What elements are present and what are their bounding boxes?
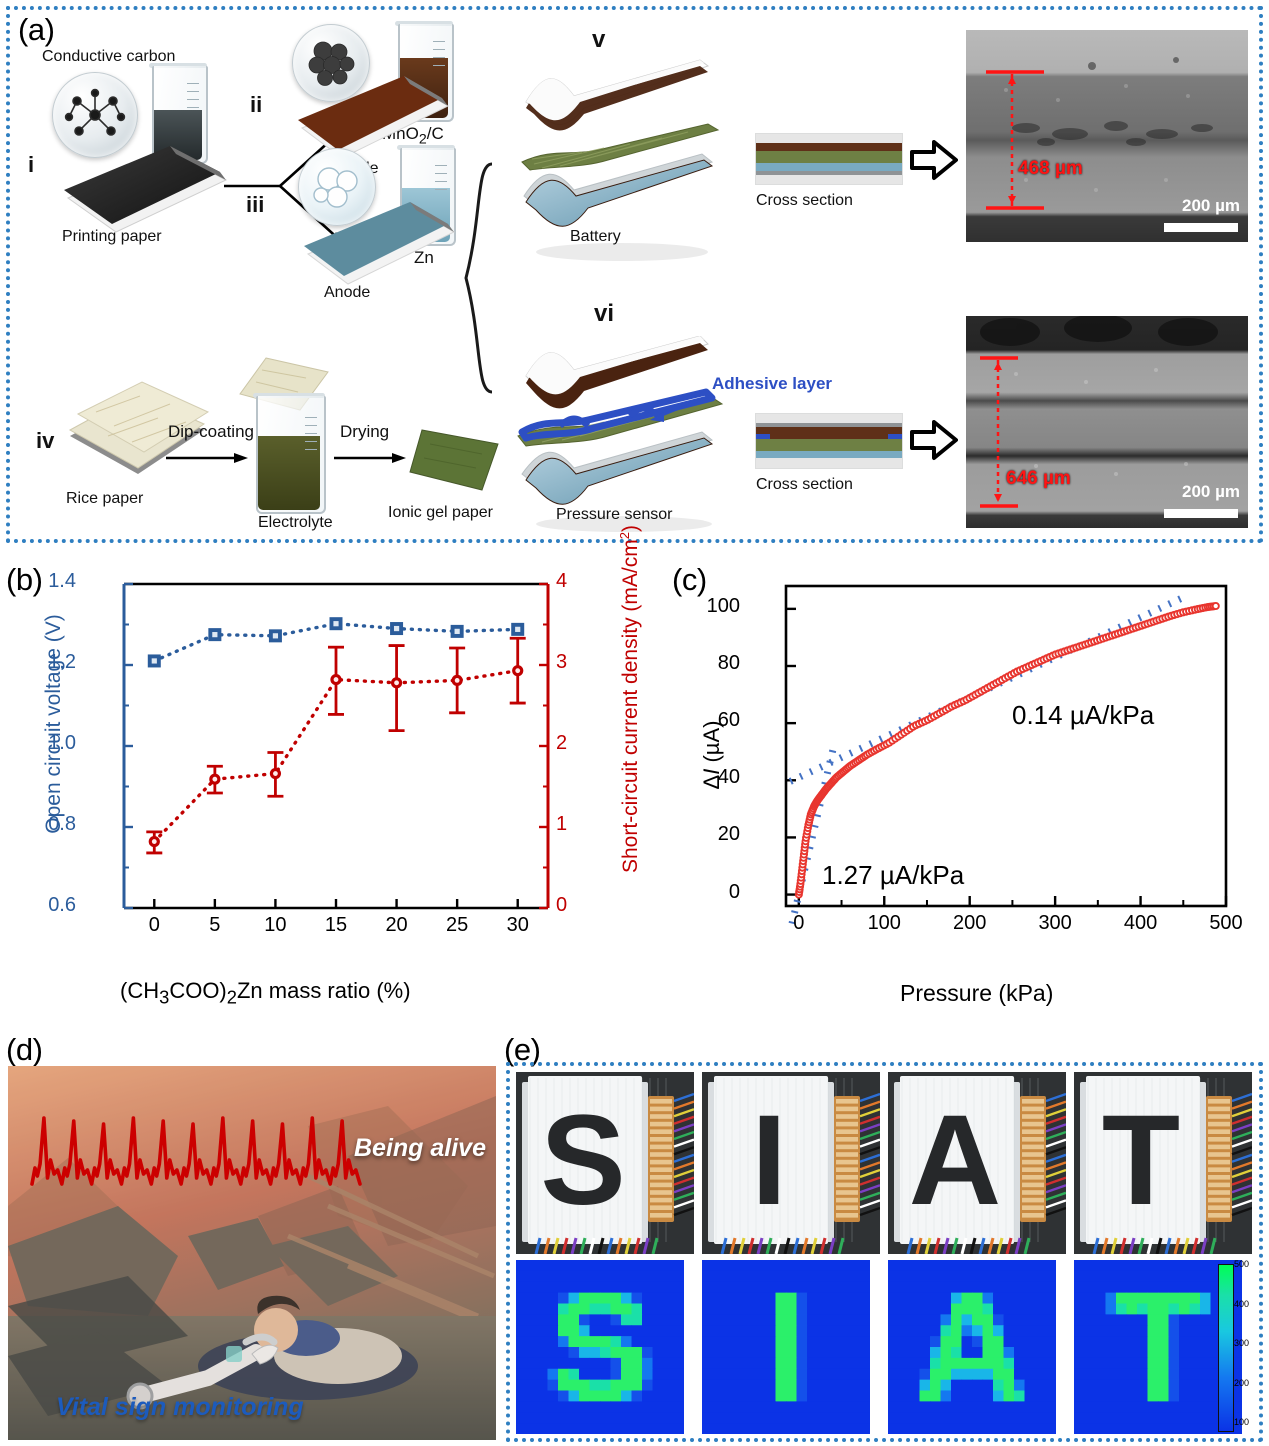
panel-e-colorbar-tick: 100: [1234, 1417, 1249, 1427]
anode-sheet-icon: [298, 196, 458, 296]
chart-c: [742, 576, 1234, 950]
xlabel-mid: COO): [169, 978, 226, 1003]
photo-svg: A: [888, 1072, 1066, 1254]
arrow-dip-coating: [166, 450, 250, 466]
chart-b-xtick: 5: [199, 914, 231, 937]
chart-b-ytick-right: 0: [556, 894, 567, 917]
xlabel-sub2: 2: [227, 986, 237, 1007]
chart-c-ytick: 20: [700, 823, 740, 846]
photo-svg: T: [1074, 1072, 1252, 1254]
chart-b-ytick-right: 4: [556, 570, 567, 593]
sem-scale-label-1: 200 µm: [1182, 196, 1240, 216]
photo-svg: S: [516, 1072, 694, 1254]
step-iv-label: iv: [36, 428, 54, 454]
label-drying: Drying: [340, 422, 389, 442]
panel-e-colorbar-tick: 400: [1234, 1299, 1249, 1309]
ylabel-right-sup: 2: [617, 532, 632, 539]
chart-c-xtick: 200: [944, 912, 996, 935]
step-ii-label: ii: [250, 92, 262, 118]
chart-b-ytick-right: 2: [556, 732, 567, 755]
heatmap-svg: [888, 1260, 1056, 1434]
chart-c-xtick: 0: [773, 912, 825, 935]
panel-a-label: (a): [18, 12, 54, 48]
chart-b-xtick: 15: [320, 914, 352, 937]
xsec2-layer-cathode: [756, 427, 902, 439]
heatmap-svg: [516, 1260, 684, 1434]
sem-thickness-sensor: 646 µm: [1006, 468, 1071, 490]
chart-c-ytick: 100: [700, 595, 740, 618]
chart-b-xlabel: (CH3COO)2Zn mass ratio (%): [120, 978, 411, 1008]
xlabel-post: Zn mass ratio (%): [237, 978, 411, 1003]
heatmap-svg: [702, 1260, 870, 1434]
chart-b-ytick-left: 0.6: [22, 894, 76, 917]
chart-c-xtick: 400: [1115, 912, 1167, 935]
xsec-layer-paper-top: [756, 134, 902, 143]
chart-c-xtick: 100: [858, 912, 910, 935]
panel-e-photo-i: I: [702, 1072, 880, 1254]
adhesive-callout-arrow: [648, 392, 714, 426]
battery-exploded-icon: [512, 56, 732, 266]
label-ionic-gel-paper: Ionic gel paper: [388, 504, 493, 522]
sem-image-sensor: 646 µm 200 µm: [966, 316, 1248, 528]
sem-thickness-battery: 468 µm: [1018, 158, 1083, 180]
panel-e-heatmap-t: [1074, 1260, 1242, 1434]
chart-b-ytick-left: 1.2: [22, 651, 76, 674]
grouping-brace: [462, 160, 498, 400]
panel-e-photo-a: A: [888, 1072, 1066, 1254]
step-v-label: v: [592, 26, 605, 54]
panel-e-photo-s: S: [516, 1072, 694, 1254]
panel-e-photo-t: T: [1074, 1072, 1252, 1254]
heatmap-svg: [1074, 1260, 1242, 1434]
chart-b-ytick-right: 3: [556, 651, 567, 674]
chart-b-ytick-left: 1.4: [22, 570, 76, 593]
label-electrolyte: Electrolyte: [258, 514, 333, 532]
cross-section-sensor-icon: [756, 414, 902, 468]
label-pressure-sensor: Pressure sensor: [556, 506, 673, 524]
block-arrow-1-icon: [910, 138, 958, 182]
pulse-waveform: [8, 1066, 496, 1440]
caption-being-alive: Being alive: [354, 1134, 486, 1163]
panel-e-heatmap-a: [888, 1260, 1056, 1434]
photo-svg: I: [702, 1072, 880, 1254]
chart-b-ytick-left: 0.8: [22, 813, 76, 836]
xsec-layer-gel: [756, 151, 902, 163]
chart-b-xtick: 10: [259, 914, 291, 937]
ylabel-right-tail: ): [619, 525, 642, 532]
panel-d-label: (d): [6, 1032, 42, 1068]
chart-b: [86, 572, 586, 954]
xsec-layer-base: [756, 175, 902, 184]
panel-e-photo-row: SIAT: [516, 1072, 1253, 1254]
chart-c-ytick: 40: [700, 766, 740, 789]
chart-c-ytick: 80: [700, 652, 740, 675]
printing-paper-icon: [58, 140, 228, 240]
chart-c-xtick: 500: [1200, 912, 1252, 935]
panel-e-heatmap-row: [516, 1260, 1253, 1434]
chart-b-xtick: 25: [441, 914, 473, 937]
chart-c-xtick: 300: [1029, 912, 1081, 935]
chart-c-canvas: [742, 576, 1234, 950]
step-i-label: i: [28, 152, 34, 178]
xsec-layer-anode: [756, 163, 902, 171]
ionic-gel-paper-icon: [404, 418, 514, 508]
panel-e-colorbar-tick: 500: [1234, 1259, 1249, 1269]
letter-glyph: I: [751, 1089, 787, 1232]
chart-b-ytick-left: 1.0: [22, 732, 76, 755]
sem-scale-label-2: 200 µm: [1182, 482, 1240, 502]
chart-c-annotation-low: 1.27 µA/kPa: [822, 860, 964, 891]
ylabel-right-text: Short-circuit current density (mA/cm: [619, 539, 642, 873]
beaker-ticks: [305, 417, 317, 470]
panel-e-heatmap-s: [516, 1260, 684, 1434]
label-anode: Anode: [324, 284, 370, 302]
block-arrow-2-icon: [910, 418, 958, 462]
electrolyte-beaker-icon: [256, 396, 322, 512]
chart-b-ytick-right: 1: [556, 813, 567, 836]
panel-e-colorbar-tick: 200: [1234, 1378, 1249, 1388]
xsec-layer-cathode: [756, 143, 902, 151]
xsec2-layer-anode: [756, 451, 902, 458]
arrow-drying: [334, 450, 408, 466]
xsec2-layer-gel: [756, 439, 902, 451]
panel-e-colorbar: [1218, 1264, 1234, 1432]
step-vi-label: vi: [594, 300, 614, 328]
caption-vital-sign-monitoring: Vital sign monitoring: [56, 1393, 304, 1422]
xsec2-adhesive-left: [756, 434, 770, 439]
chart-b-xtick: 20: [381, 914, 413, 937]
xsec2-layer-base: [756, 458, 902, 468]
chart-c-ytick: 0: [700, 881, 740, 904]
xsec2-layer-paper-top: [756, 414, 902, 423]
chart-b-xtick: 0: [138, 914, 170, 937]
panel-d-photo: Being alive Vital sign monitoring: [8, 1066, 496, 1440]
letter-glyph: S: [540, 1089, 625, 1232]
chart-b-xtick: 30: [502, 914, 534, 937]
sem-scale-bar-1: [1164, 223, 1238, 232]
xlabel-sub1: 3: [159, 986, 169, 1007]
chart-b-ylabel-right: Short-circuit current density (mA/cm2): [617, 553, 643, 873]
label-rice-paper: Rice paper: [66, 490, 143, 508]
beaker-ticks: [187, 83, 199, 127]
letter-glyph: T: [1102, 1089, 1180, 1232]
chart-c-annotation-high: 0.14 µA/kPa: [1012, 700, 1154, 731]
step-iii-label: iii: [246, 192, 264, 218]
panel-e-colorbar-tick: 300: [1234, 1338, 1249, 1348]
chart-c-ytick: 60: [700, 709, 740, 732]
label-adhesive-layer: Adhesive layer: [712, 374, 832, 394]
label-battery: Battery: [570, 228, 621, 246]
panel-e-heatmap-i: [702, 1260, 870, 1434]
label-dip-coating: Dip-coating: [168, 422, 254, 442]
xsec2-adhesive-right: [888, 434, 902, 439]
label-cross-section-2: Cross section: [756, 476, 853, 494]
sem-scale-bar-2: [1164, 509, 1238, 518]
xlabel-pre: (CH: [120, 978, 159, 1003]
label-printing-paper: Printing paper: [62, 228, 162, 246]
label-cross-section-1: Cross section: [756, 192, 853, 210]
cross-section-battery-icon: [756, 134, 902, 184]
sem-image-battery: 468 µm 200 µm: [966, 30, 1248, 242]
letter-glyph: A: [909, 1089, 1001, 1232]
chart-c-xlabel: Pressure (kPa): [900, 980, 1053, 1007]
panel-c-label: (c): [672, 562, 707, 598]
chart-b-canvas: [86, 572, 586, 954]
